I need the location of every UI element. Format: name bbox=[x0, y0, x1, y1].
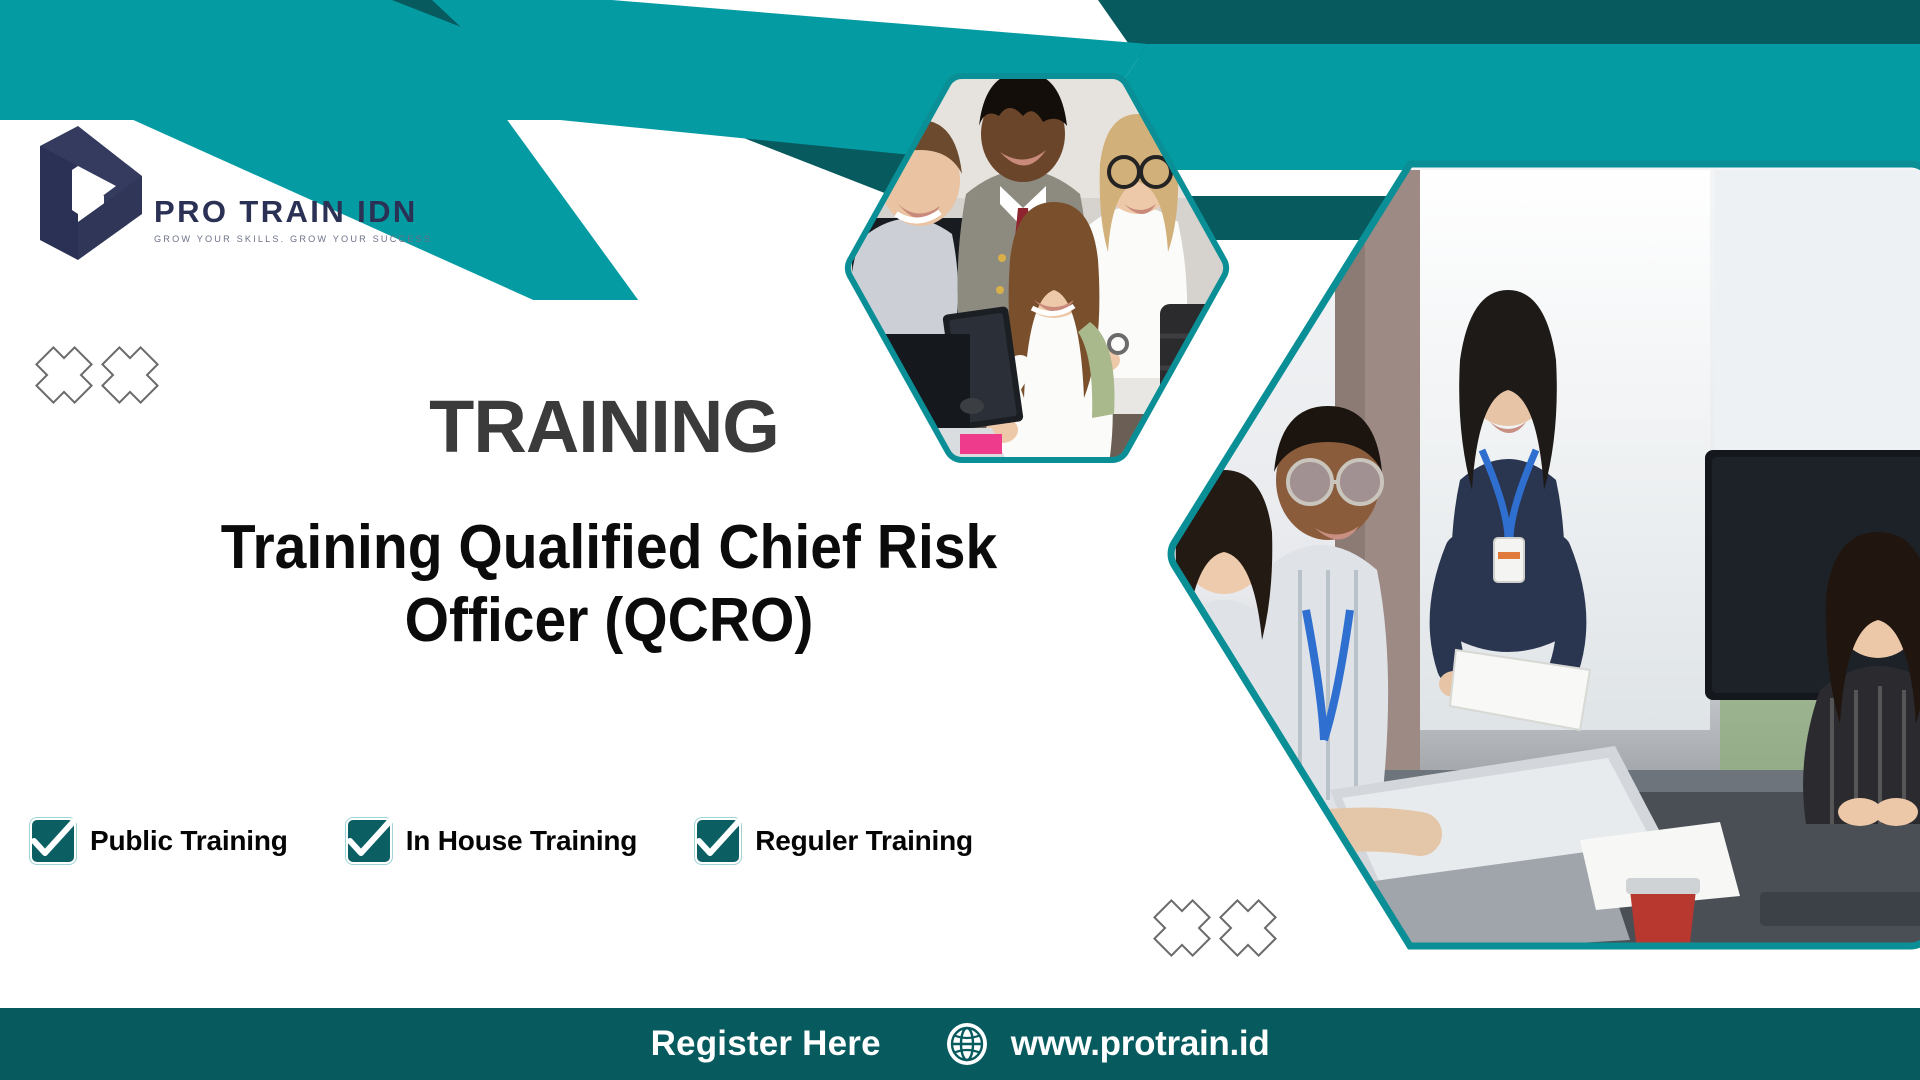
checkmark-icon bbox=[341, 818, 397, 864]
chevron-cube-logo-icon bbox=[32, 118, 150, 268]
flyer-canvas: PRO TRAIN IDN GROW YOUR SKILLS. GROW YOU… bbox=[0, 0, 1920, 1080]
training-option-label: Reguler Training bbox=[755, 825, 973, 857]
training-options-row: Public Training In House Training Regule… bbox=[30, 818, 973, 864]
team-reviewing-tablet-photo bbox=[842, 68, 1232, 468]
training-option-reguler[interactable]: Reguler Training bbox=[695, 818, 973, 864]
team-reviewing-tablet-photo-frame bbox=[842, 68, 1232, 468]
logo-tagline: GROW YOUR SKILLS. GROW YOUR SUCCESS bbox=[154, 234, 432, 244]
logo-name: PRO TRAIN IDN bbox=[154, 196, 432, 227]
checkbox-in-house-training[interactable] bbox=[346, 818, 392, 864]
checkbox-reguler-training[interactable] bbox=[695, 818, 741, 864]
training-option-public[interactable]: Public Training bbox=[30, 818, 288, 864]
register-here-label[interactable]: Register Here bbox=[651, 1024, 881, 1064]
office-meeting-photo-frame bbox=[1160, 150, 1920, 960]
checkbox-public-training[interactable] bbox=[30, 818, 76, 864]
footer-bar: Register Here www.protrain.id bbox=[0, 1008, 1920, 1080]
checkmark-icon bbox=[25, 818, 81, 864]
training-option-label: Public Training bbox=[90, 825, 288, 857]
training-option-label: In House Training bbox=[406, 825, 638, 857]
brand-logo[interactable]: PRO TRAIN IDN GROW YOUR SKILLS. GROW YOU… bbox=[32, 118, 372, 278]
page-title: Training Qualified Chief Risk Officer (Q… bbox=[122, 512, 1095, 657]
checkmark-icon bbox=[690, 818, 746, 864]
training-option-in-house[interactable]: In House Training bbox=[346, 818, 638, 864]
page-title-line-1: Training Qualified Chief Risk bbox=[122, 512, 1095, 585]
website-group[interactable]: www.protrain.id bbox=[945, 1022, 1270, 1066]
office-meeting-photo bbox=[1160, 150, 1920, 960]
page-title-line-2: Officer (QCRO) bbox=[122, 585, 1095, 658]
globe-icon bbox=[945, 1022, 989, 1066]
logo-text-block: PRO TRAIN IDN GROW YOUR SKILLS. GROW YOU… bbox=[154, 118, 432, 244]
website-url[interactable]: www.protrain.id bbox=[1011, 1024, 1270, 1064]
